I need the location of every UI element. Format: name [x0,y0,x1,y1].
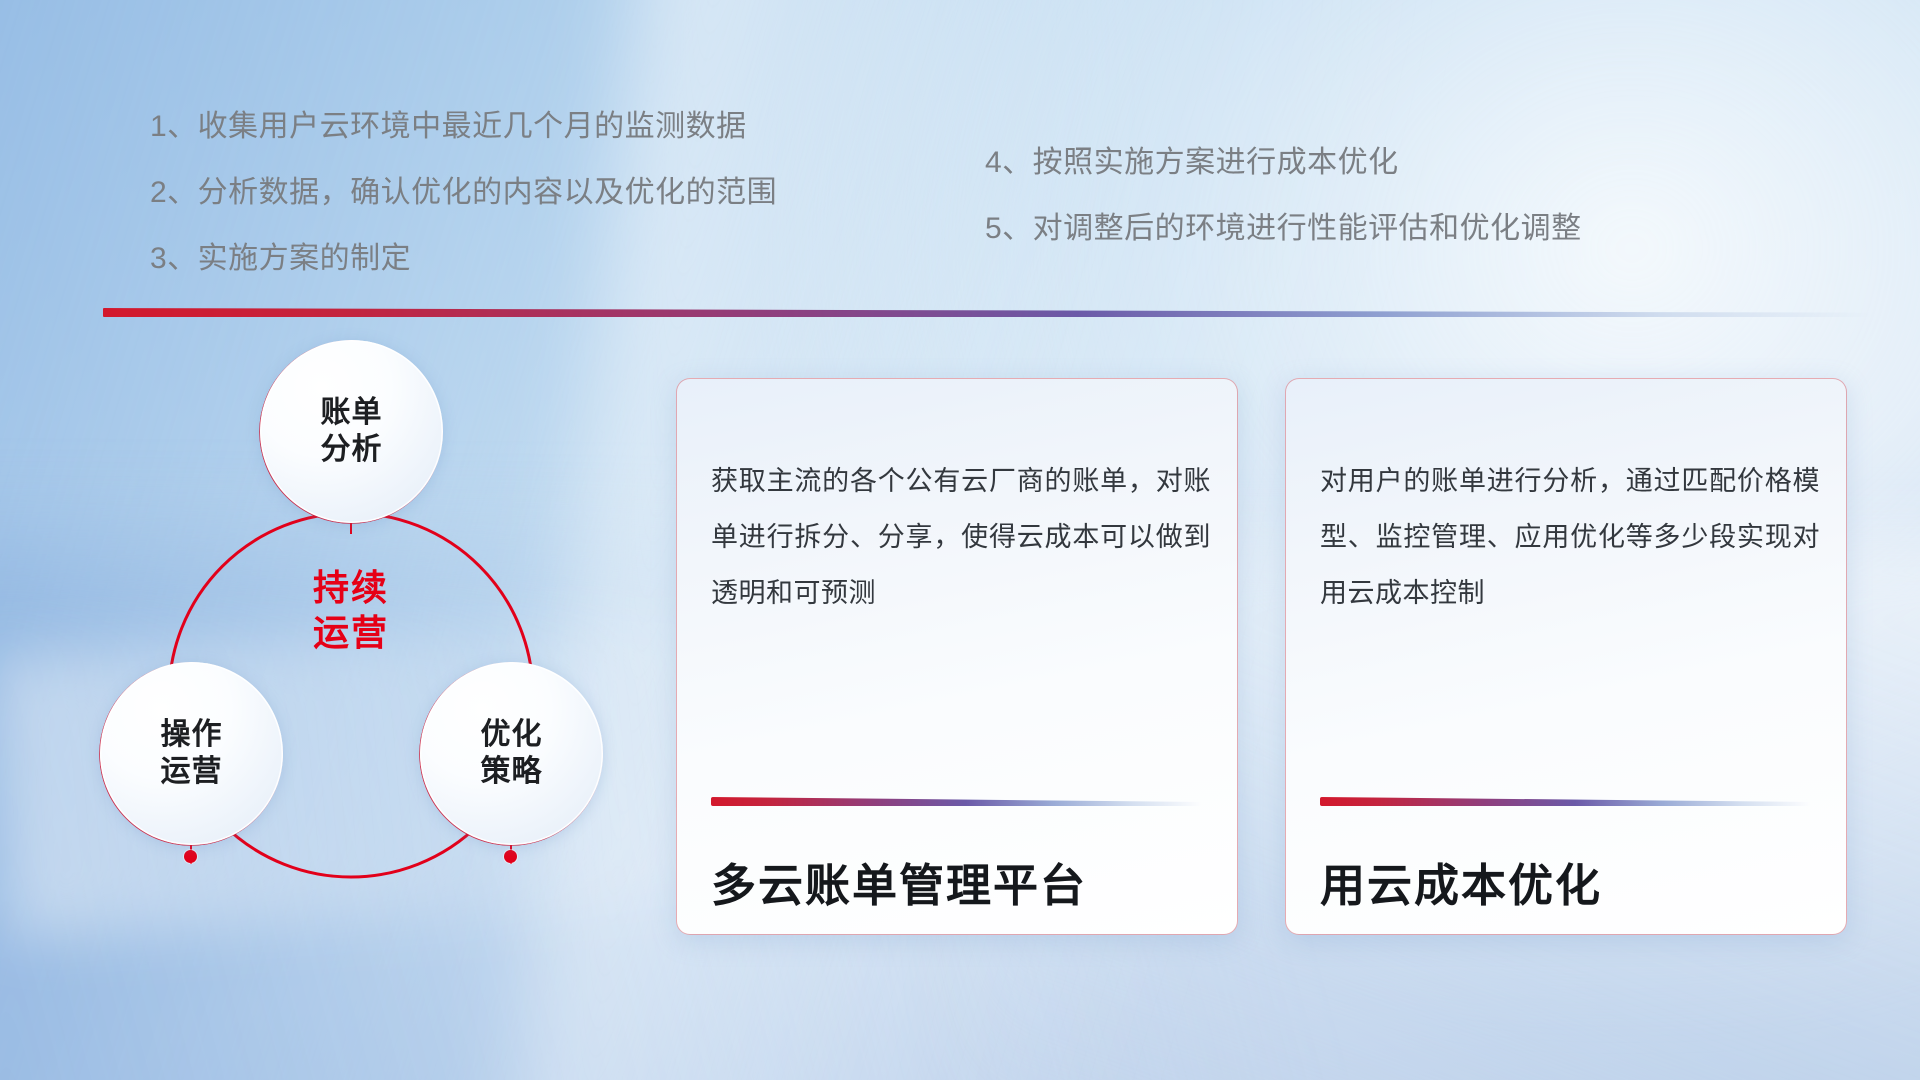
venn-bubble-label-line2: 策略 [481,754,543,791]
card-multi-cloud-billing[interactable]: 获取主流的各个公有云厂商的账单，对账单进行拆分、分享，使得云成本可以做到透明和可… [676,378,1238,935]
venn-bubble-label: 操作 运营 [161,717,223,790]
venn-bubble-label: 优化 策略 [481,717,543,790]
venn-bubble-label-line2: 分析 [321,432,383,469]
list-item: 3、实施方案的制定 [150,244,777,274]
tangent-dot-bottom-right [504,850,517,863]
venn-center-label-line2: 运营 [271,610,431,655]
card-title: 用云成本优化 [1320,849,1602,914]
venn-center-label-line1: 持续 [271,565,431,610]
venn-center-label: 持续 运营 [271,565,431,655]
card-cloud-cost-optimization[interactable]: 对用户的账单进行分析，通过匹配价格模型、监控管理、应用优化等多少段实现对用云成本… [1285,378,1847,935]
venn-bubble-operations[interactable]: 操作 运营 [100,662,283,845]
card-body-text: 对用户的账单进行分析，通过匹配价格模型、监控管理、应用优化等多少段实现对用云成本… [1320,453,1820,621]
venn-bubble-label-line2: 运营 [161,754,223,791]
venn-bubble-label-line1: 账单 [321,395,383,432]
venn-bubble-label-line1: 操作 [161,717,223,754]
steps-right-column: 4、按照实施方案进行成本优化 5、对调整后的环境进行性能评估和优化调整 [985,148,1582,280]
card-body-text: 获取主流的各个公有云厂商的账单，对账单进行拆分、分享，使得云成本可以做到透明和可… [711,453,1211,621]
tangent-dot-bottom-left [184,850,197,863]
list-item: 2、分析数据，确认优化的内容以及优化的范围 [150,178,777,208]
card-title: 多云账单管理平台 [711,849,1087,914]
venn-bubble-label: 账单 分析 [321,395,383,468]
list-item: 1、收集用户云环境中最近几个月的监测数据 [150,112,777,142]
list-item: 4、按照实施方案进行成本优化 [985,148,1582,178]
venn-bubble-billing-analysis[interactable]: 账单 分析 [260,340,443,523]
card-divider [711,797,1201,806]
list-item: 5、对调整后的环境进行性能评估和优化调整 [985,214,1582,244]
venn-bubble-optimization-strategy[interactable]: 优化 策略 [420,662,603,845]
card-divider [1320,797,1810,806]
venn-bubble-label-line1: 优化 [481,717,543,754]
steps-left-column: 1、收集用户云环境中最近几个月的监测数据 2、分析数据，确认优化的内容以及优化的… [150,112,777,310]
venn-diagram: 账单 分析 操作 运营 优化 策略 持续 运营 [95,350,655,950]
